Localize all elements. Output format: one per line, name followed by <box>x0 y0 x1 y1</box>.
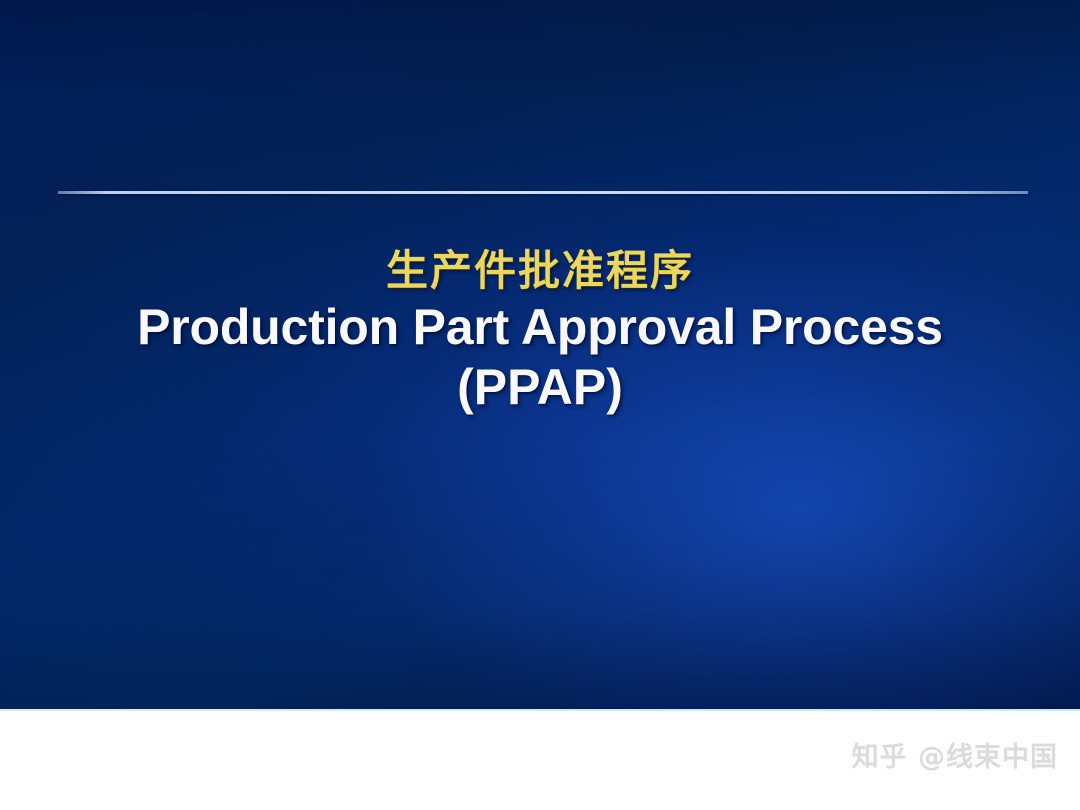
slide-title-abbreviation: (PPAP) <box>0 359 1080 415</box>
zhihu-watermark: 知乎 @线束中国 <box>852 735 1058 774</box>
slide-root: 生产件批准程序 Production Part Approval Process… <box>0 0 1080 810</box>
slide-content: 生产件批准程序 Production Part Approval Process… <box>0 0 1080 709</box>
footer-band-edge <box>0 709 1080 711</box>
title-block: 生产件批准程序 Production Part Approval Process… <box>0 248 1080 415</box>
footer-band: 知乎 @线束中国 <box>0 709 1080 810</box>
slide-title-chinese: 生产件批准程序 <box>0 248 1080 293</box>
title-divider-rule <box>58 191 1028 194</box>
slide-title-english: Production Part Approval Process <box>0 299 1080 355</box>
